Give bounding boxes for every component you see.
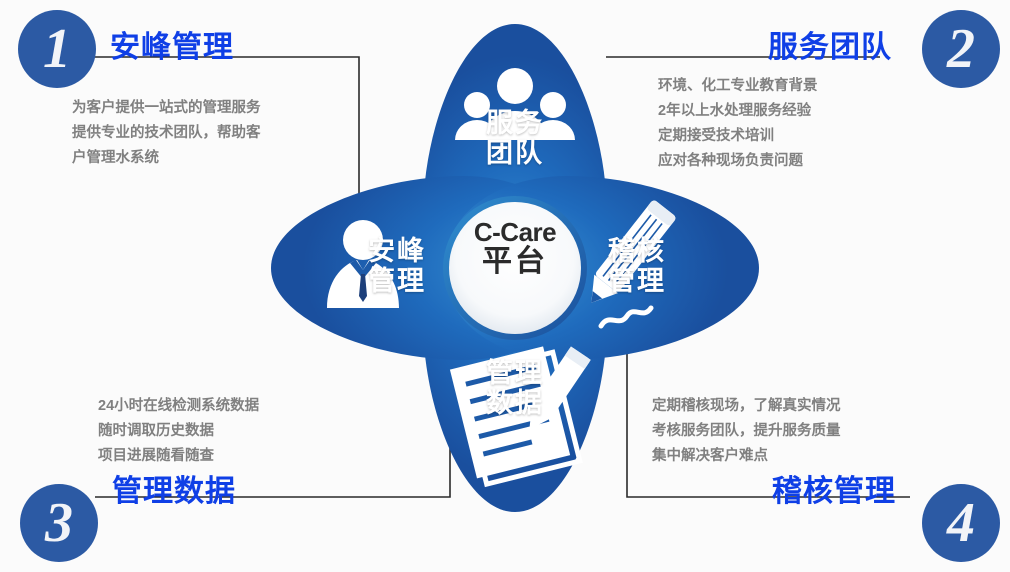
section-3-line: 随时调取历史数据	[98, 419, 259, 444]
section-3-line: 项目进展随看随查	[98, 444, 259, 469]
badge-number-3[interactable]: 3	[20, 484, 98, 562]
petal-label-service-team: 服务 团队	[459, 108, 571, 168]
section-title-2: 服务团队	[768, 22, 892, 66]
petal-label-data-management: 管理 数据	[459, 358, 571, 418]
section-2-line: 应对各种现场负责问题	[658, 149, 818, 174]
section-body-3: 24小时在线检测系统数据 随时调取历史数据 项目进展随看随查	[98, 394, 259, 469]
section-title-3: 管理数据	[112, 466, 236, 510]
section-body-4: 定期稽核现场，了解真实情况 考核服务团队，提升服务质量 集中解决客户难点	[652, 394, 841, 469]
petal-label-anfeng-management: 安峰 管理	[347, 236, 447, 296]
section-2-line: 环境、化工专业教育背景	[658, 74, 818, 99]
center-label-en: C-Care	[445, 218, 585, 246]
section-title-1: 安峰管理	[110, 22, 234, 66]
section-4-line: 考核服务团队，提升服务质量	[652, 419, 841, 444]
section-2-line: 2年以上水处理服务经验	[658, 99, 818, 124]
section-body-1: 为客户提供一站式的管理服务 提供专业的技术团队，帮助客 户管理水系统	[72, 96, 261, 171]
section-1-line: 户管理水系统	[72, 146, 261, 171]
section-4-line: 定期稽核现场，了解真实情况	[652, 394, 841, 419]
center-label: C-Care 平台	[445, 218, 585, 278]
badge-number-1[interactable]: 1	[18, 10, 96, 88]
badge-number-2[interactable]: 2	[922, 10, 1000, 88]
section-body-2: 环境、化工专业教育背景 2年以上水处理服务经验 定期接受技术培训 应对各种现场负…	[658, 74, 818, 174]
section-4-line: 集中解决客户难点	[652, 444, 841, 469]
section-2-line: 定期接受技术培训	[658, 124, 818, 149]
center-label-cn: 平台	[445, 246, 585, 278]
petal-label-audit-management: 稽核 管理	[587, 236, 687, 296]
section-title-4: 稽核管理	[772, 466, 896, 510]
infographic-canvas: 服务 团队 安峰 管理 稽核 管理 管理 数据 C-Care 平台 1 安峰管理…	[0, 0, 1010, 572]
section-1-line: 提供专业的技术团队，帮助客	[72, 121, 261, 146]
section-1-line: 为客户提供一站式的管理服务	[72, 96, 261, 121]
badge-number-4[interactable]: 4	[922, 484, 1000, 562]
section-3-line: 24小时在线检测系统数据	[98, 394, 259, 419]
